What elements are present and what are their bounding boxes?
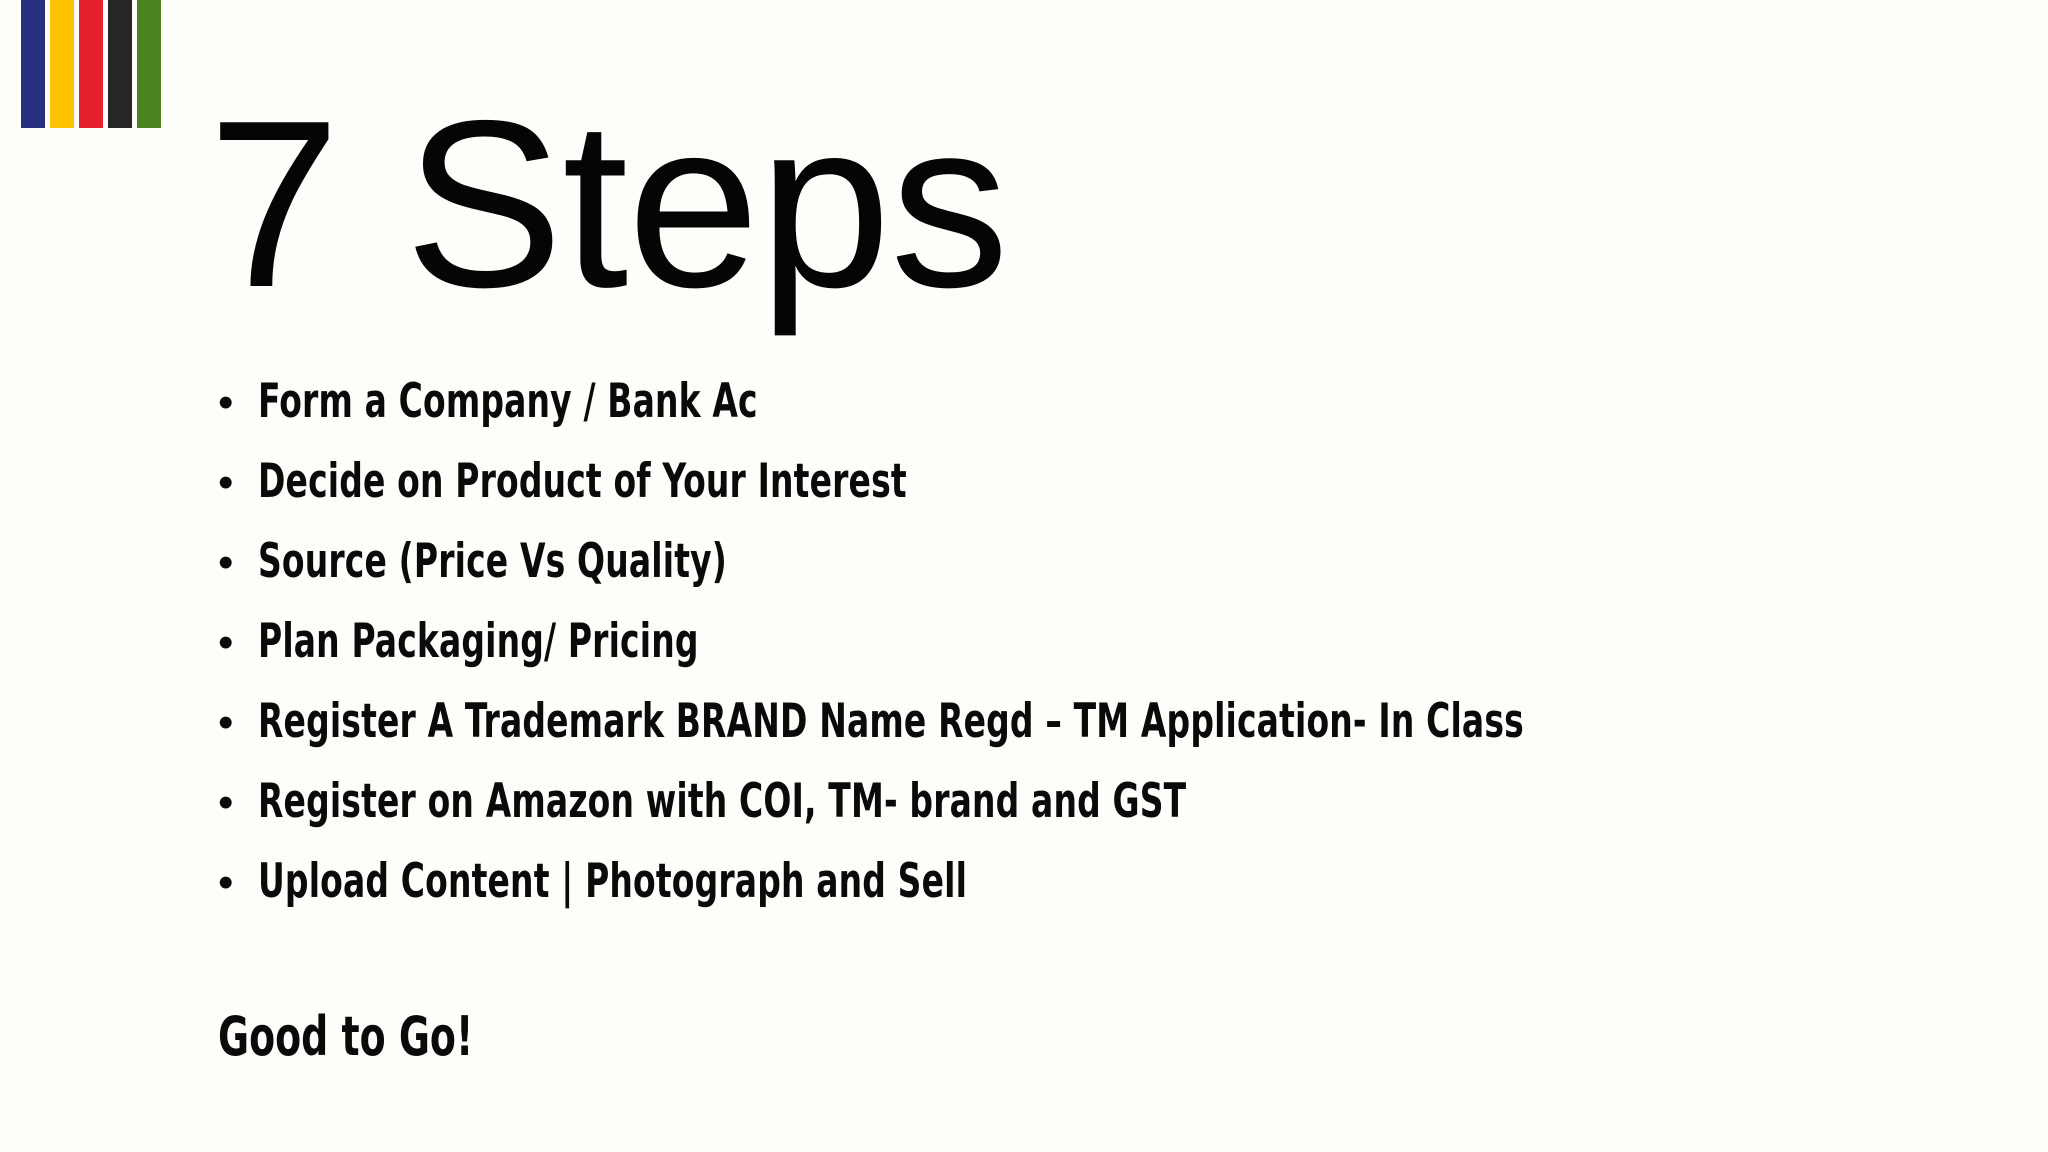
list-item: •Register on Amazon with COI, TM- brand … [218, 778, 1881, 858]
list-item-label: Upload Content | Photograph and Sell [258, 858, 967, 905]
list-item-label: Source (Price Vs Quality) [258, 538, 727, 585]
accent-bar-dark [108, 0, 132, 128]
bullet-point-icon: • [218, 381, 258, 425]
list-item-label: Decide on Product of Your Interest [258, 458, 907, 505]
accent-bar-yellow [50, 0, 74, 128]
list-item: •Upload Content | Photograph and Sell [218, 858, 1881, 938]
closing-statement: Good to Go! [218, 1010, 473, 1064]
bullet-point-icon: • [218, 861, 258, 905]
list-item: •Register A Trademark BRAND Name Regd – … [218, 698, 1881, 778]
bullet-point-icon: • [218, 621, 258, 665]
bullet-point-icon: • [218, 541, 258, 585]
list-item: •Plan Packaging/ Pricing [218, 618, 1881, 698]
presentation-slide: 7 Steps •Form a Company / Bank Ac•Decide… [0, 0, 2048, 1152]
bullet-point-icon: • [218, 461, 258, 505]
accent-bar-group [21, 0, 166, 128]
list-item: •Source (Price Vs Quality) [218, 538, 1881, 618]
list-item-label: Form a Company / Bank Ac [258, 378, 758, 425]
list-item-label: Register A Trademark BRAND Name Regd – T… [258, 698, 1524, 745]
list-item: •Decide on Product of Your Interest [218, 458, 1881, 538]
bullet-point-icon: • [218, 781, 258, 825]
list-item: •Form a Company / Bank Ac [218, 378, 1881, 458]
list-item-label: Plan Packaging/ Pricing [258, 618, 699, 665]
accent-bar-blue [21, 0, 45, 128]
accent-bar-red [79, 0, 103, 128]
page-title: 7 Steps [208, 86, 1008, 324]
list-item-label: Register on Amazon with COI, TM- brand a… [258, 778, 1186, 825]
bullet-list: •Form a Company / Bank Ac•Decide on Prod… [218, 378, 1881, 938]
bullet-point-icon: • [218, 701, 258, 745]
accent-bar-green [137, 0, 161, 128]
